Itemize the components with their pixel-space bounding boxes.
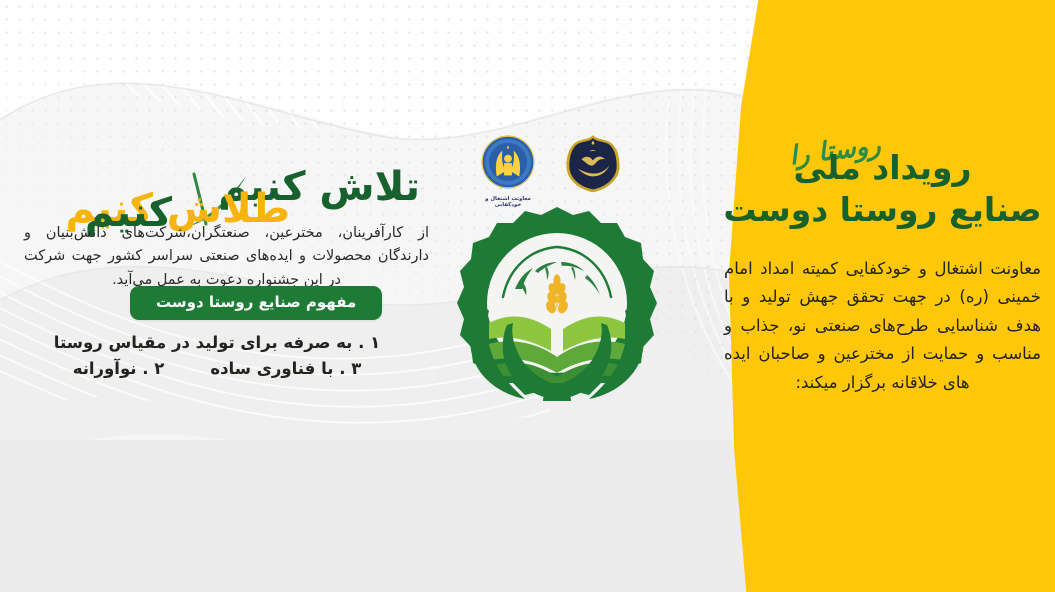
event-title-line2: صنایع روستا دوست [710, 192, 1055, 229]
relief-foundation-logo: معاونت اشتغال و خودکفایی [477, 134, 539, 208]
rural-industries-emblem [455, 205, 660, 405]
relief-foundation-icon [480, 134, 536, 190]
feature-list: ۱ . به صرفه برای تولید در مقیاس روستا ۳ … [22, 330, 412, 381]
right-content-column: رویداد ملی صنایع روستا دوست معاونت اشتغا… [710, 0, 1055, 592]
feature-item-3: ۳ . با فناوری ساده [210, 356, 361, 382]
event-title-line1: رویداد ملی [710, 150, 1055, 187]
event-description: معاونت اشتغال و خودکفایی کمیته امداد اما… [724, 255, 1041, 397]
feature-row-2: ۳ . با فناوری ساده ۲ . نوآورانه [22, 356, 412, 382]
poster-root: روستا را تلاش کنیم طلاش کنیم کنیم از کار… [0, 0, 1055, 592]
feature-item-2: ۲ . نوآورانه [73, 356, 165, 382]
left-description: از کارآفرینان، مخترعین، صنعتگران،شرکت‌ها… [24, 222, 429, 292]
production-slogan-icon [564, 134, 622, 194]
concept-pill-badge: مفهوم صنایع روستا دوست [130, 286, 382, 320]
production-slogan-logo [562, 134, 624, 198]
feature-item-1: ۱ . به صرفه برای تولید در مقیاس روستا [22, 330, 412, 356]
rural-industries-emblem-icon [455, 205, 660, 405]
